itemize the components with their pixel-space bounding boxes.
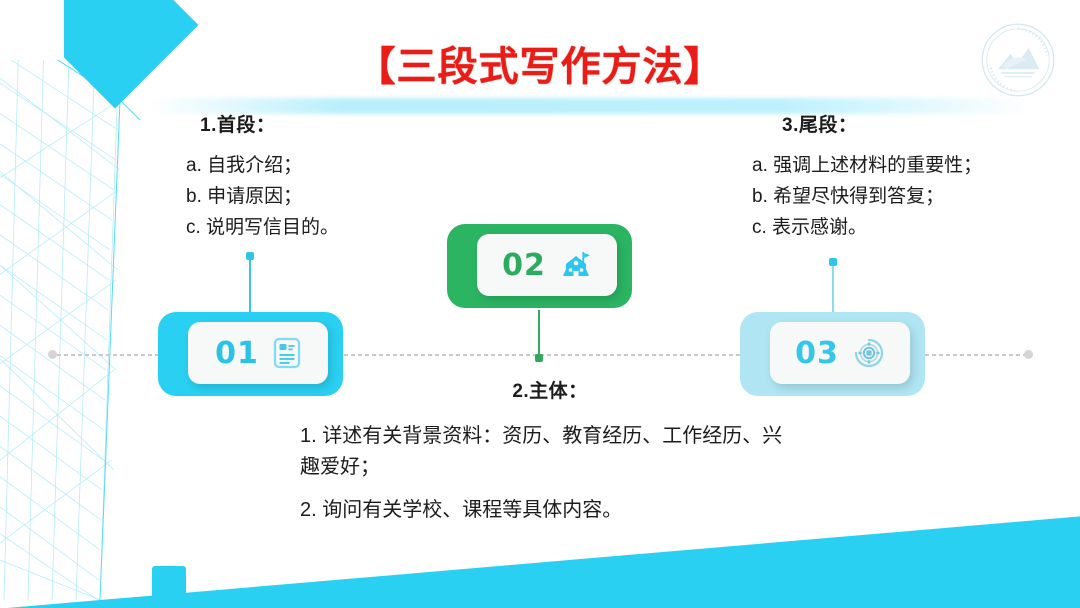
section-body: 2.主体： 1. 详述有关背景资料：资历、教育经历、工作经历、兴趣爱好； 2. … <box>300 376 800 526</box>
section-first-item-a: a. 自我介绍； <box>186 151 339 182</box>
resume-document-icon <box>273 337 301 369</box>
timeline-marker-01-inner: 01 <box>188 322 328 384</box>
slide-canvas: 【三段式写作方法】 01 02 <box>0 0 1080 608</box>
timeline-marker-02[interactable]: 02 <box>447 224 632 308</box>
section-last: 3.尾段： a. 强调上述材料的重要性； b. 希望尽快得到答复； c. 表示感… <box>752 110 982 243</box>
timeline-marker-03-number: 03 <box>795 336 839 371</box>
connector-line-02 <box>538 310 540 358</box>
section-first-item-c: c. 说明写信目的。 <box>186 213 339 244</box>
section-body-item-1: 1. 详述有关背景资料：资历、教育经历、工作经历、兴趣爱好； <box>300 421 800 483</box>
section-body-item-2: 2. 询问有关学校、课程等具体内容。 <box>300 495 800 526</box>
target-gear-icon <box>853 337 885 369</box>
school-building-icon <box>560 249 592 281</box>
page-title: 【三段式写作方法】 <box>0 34 1080 92</box>
connector-dot-02 <box>535 354 543 362</box>
section-last-heading: 3.尾段： <box>782 110 982 137</box>
connector-line-01 <box>249 256 251 318</box>
section-first: 1.首段： a. 自我介绍； b. 申请原因； c. 说明写信目的。 <box>186 110 339 243</box>
section-last-item-a: a. 强调上述材料的重要性； <box>752 151 982 182</box>
section-first-item-b: b. 申请原因； <box>186 182 339 213</box>
timeline-right-endpoint <box>1024 350 1033 359</box>
timeline-marker-02-number: 02 <box>502 248 546 283</box>
section-body-heading: 2.主体： <box>300 376 800 403</box>
timeline-marker-03-inner: 03 <box>770 322 910 384</box>
section-last-item-c: c. 表示感谢。 <box>752 213 982 244</box>
connector-dot-03 <box>829 258 837 266</box>
timeline-marker-01-number: 01 <box>215 336 259 371</box>
timeline-marker-02-inner: 02 <box>477 234 617 296</box>
timeline-left-endpoint <box>48 350 57 359</box>
bottom-left-square-decoration <box>152 566 186 600</box>
corner-square-decoration <box>118 0 144 12</box>
section-first-heading: 1.首段： <box>200 110 339 137</box>
section-last-item-b: b. 希望尽快得到答复； <box>752 182 982 213</box>
connector-dot-01 <box>246 252 254 260</box>
